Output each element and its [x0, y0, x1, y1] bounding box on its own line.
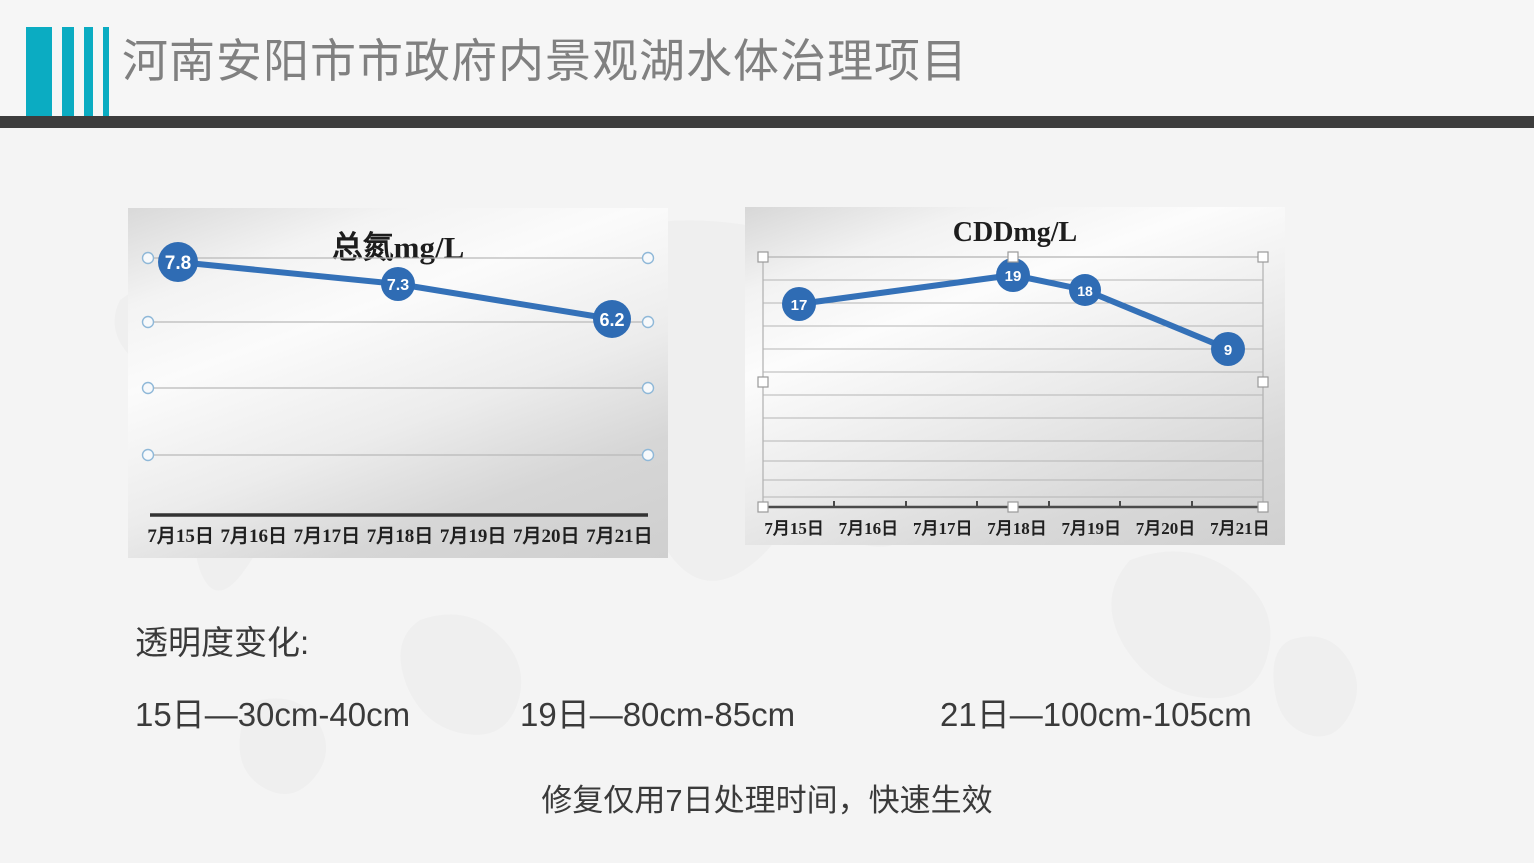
transparency-measurement-item: 21日—100cm-105cm — [940, 688, 1315, 736]
x-axis-labels-total-nitrogen: 7月15日 7月16日 7月17日 7月18日 7月19日 7月20日 7月21… — [144, 521, 656, 548]
x-tick-label: 7月15日 — [757, 514, 831, 539]
x-tick-label: 7月16日 — [217, 521, 290, 548]
chart-total-nitrogen[interactable]: 总氮mg/L 7.8 7.3 6.2 — [128, 208, 668, 558]
svg-text:7.8: 7.8 — [165, 253, 191, 274]
svg-text:19: 19 — [1005, 268, 1022, 285]
svg-text:7.3: 7.3 — [387, 277, 409, 294]
transparency-measurement-row: 15日—30cm-40cm 19日—80cm-85cm 21日—100cm-10… — [135, 688, 1315, 736]
svg-text:18: 18 — [1077, 283, 1093, 299]
chart-cdd[interactable]: CDDmg/L — [745, 207, 1285, 545]
svg-text:9: 9 — [1224, 342, 1232, 359]
x-tick-label: 7月17日 — [290, 521, 363, 548]
x-tick-label: 7月20日 — [1128, 514, 1202, 539]
accent-bar-1 — [26, 27, 52, 116]
x-tick-label: 7月16日 — [831, 514, 905, 539]
x-axis-labels-cdd: 7月15日 7月16日 7月17日 7月18日 7月19日 7月20日 7月21… — [757, 514, 1277, 539]
slide-canvas: 河南安阳市市政府内景观湖水体治理项目 总氮mg/L — [0, 0, 1534, 863]
transparency-measurement-item: 19日—80cm-85cm — [520, 688, 940, 736]
svg-text:17: 17 — [791, 297, 808, 314]
x-tick-label: 7月17日 — [906, 514, 980, 539]
accent-bars-decoration — [26, 27, 119, 116]
x-tick-label: 7月15日 — [144, 521, 217, 548]
accent-bar-2 — [62, 27, 74, 116]
chart-plot-total-nitrogen: 7.8 7.3 6.2 — [128, 208, 668, 558]
page-title: 河南安阳市市政府内景观湖水体治理项目 — [122, 30, 968, 92]
x-tick-label: 7月20日 — [510, 521, 583, 548]
x-tick-label: 7月21日 — [583, 521, 656, 548]
x-tick-label: 7月21日 — [1203, 514, 1277, 539]
x-tick-label: 7月18日 — [980, 514, 1054, 539]
svg-text:6.2: 6.2 — [599, 310, 624, 330]
x-tick-label: 7月18日 — [363, 521, 436, 548]
transparency-measurement-item: 15日—30cm-40cm — [135, 688, 520, 736]
summary-statement: 修复仅用7日处理时间，快速生效 — [0, 775, 1534, 820]
chart-plot-cdd: 17 19 18 9 — [745, 207, 1285, 545]
transparency-caption-heading: 透明度变化: — [135, 616, 309, 664]
header-band: 河南安阳市市政府内景观湖水体治理项目 — [0, 0, 1534, 116]
x-tick-label: 7月19日 — [1054, 514, 1128, 539]
accent-bar-3 — [84, 27, 93, 116]
header-divider-rule — [0, 116, 1534, 128]
accent-bar-4 — [103, 27, 109, 116]
x-tick-label: 7月19日 — [437, 521, 510, 548]
